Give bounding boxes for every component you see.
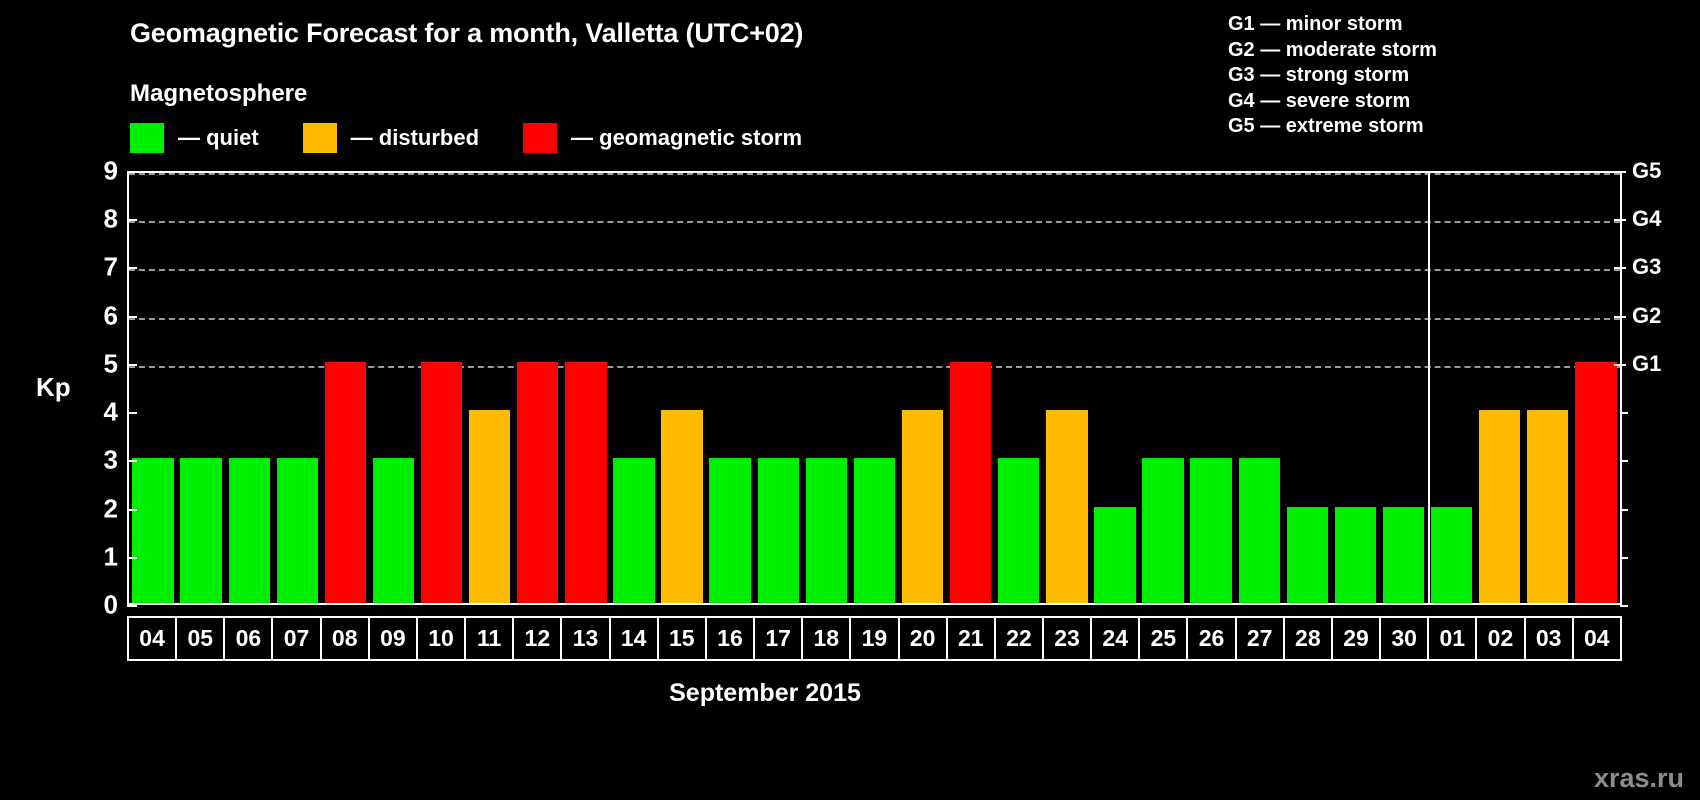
day-label-22[interactable]: 22 [996,618,1044,659]
bar-19-kp3[interactable] [854,458,895,603]
day-label-29[interactable]: 29 [1333,618,1381,659]
g-tick-mark-G1 [1614,364,1626,366]
bar-04-kp5[interactable] [1575,362,1616,603]
bar-cell[interactable] [129,173,177,603]
day-label-01[interactable]: 01 [1429,618,1477,659]
day-label-13[interactable]: 13 [562,618,610,659]
y-tick-label-8: 8 [104,204,118,235]
bar-30-kp2[interactable] [1383,507,1424,603]
bar-16-kp3[interactable] [709,458,750,603]
bar-cell[interactable] [1139,173,1187,603]
day-label-26[interactable]: 26 [1188,618,1236,659]
bar-cell[interactable] [1379,173,1427,603]
day-label-04[interactable]: 04 [1574,618,1620,659]
bar-cell[interactable] [850,173,898,603]
bar-18-kp3[interactable] [806,458,847,603]
bar-cell[interactable] [1572,173,1620,603]
day-label-21[interactable]: 21 [948,618,996,659]
bar-09-kp3[interactable] [373,458,414,603]
g-tick-mark-G5 [1614,171,1626,173]
legend-label-disturbed: — disturbed [351,125,479,151]
legend-label-storm: — geomagnetic storm [571,125,802,151]
bar-cell[interactable] [1476,173,1524,603]
y-axis-title: Kp [36,372,71,403]
y-tick-mark-9 [127,171,137,173]
storm-scale-legend: G1 — minor stormG2 — moderate stormG3 — … [1228,12,1437,140]
day-label-30[interactable]: 30 [1381,618,1429,659]
bar-series [129,173,1620,603]
bar-cell[interactable] [369,173,417,603]
y-tick-mark-7 [127,267,137,269]
g-tick-mark-G4 [1614,219,1626,221]
day-label-25[interactable]: 25 [1140,618,1188,659]
g-tick-mark-G2 [1614,316,1626,318]
y-tick-label-3: 3 [104,445,118,476]
legend-item-storm: — geomagnetic storm [523,123,846,153]
g-minor-tick-1 [1620,557,1628,559]
g-minor-tick-3 [1620,460,1628,462]
geomagnetic-forecast-chart: Geomagnetic Forecast for a month, Vallet… [0,0,1700,800]
y-tick-label-7: 7 [104,252,118,283]
bar-cell[interactable] [466,173,514,603]
bar-11-kp4[interactable] [469,410,510,603]
bar-cell[interactable] [995,173,1043,603]
bar-cell[interactable] [321,173,369,603]
y-tick-label-2: 2 [104,493,118,524]
g-minor-tick-2 [1620,509,1628,511]
y-tick-mark-0 [127,605,137,607]
day-label-04[interactable]: 04 [129,618,177,659]
y-tick-label-4: 4 [104,397,118,428]
day-label-14[interactable]: 14 [611,618,659,659]
day-label-12[interactable]: 12 [514,618,562,659]
legend-item-quiet: — quiet [130,123,303,153]
day-label-08[interactable]: 08 [322,618,370,659]
bar-28-kp2[interactable] [1287,507,1328,603]
day-label-09[interactable]: 09 [370,618,418,659]
day-label-02[interactable]: 02 [1477,618,1525,659]
bar-06-kp3[interactable] [229,458,270,603]
bar-cell[interactable] [514,173,562,603]
bar-20-kp4[interactable] [902,410,943,603]
day-label-23[interactable]: 23 [1044,618,1092,659]
storm-scale-row-3: G3 — strong storm [1228,63,1437,89]
bar-cell[interactable] [1091,173,1139,603]
bar-cell[interactable] [1428,173,1476,603]
bar-cell[interactable] [1524,173,1572,603]
y-tick-mark-1 [127,557,137,559]
y-tick-mark-5 [127,364,137,366]
g-axis-label-G3: G3 [1632,254,1661,280]
bar-27-kp3[interactable] [1239,458,1280,603]
g-axis-label-G1: G1 [1632,351,1661,377]
day-label-17[interactable]: 17 [755,618,803,659]
day-label-15[interactable]: 15 [659,618,707,659]
bar-07-kp3[interactable] [277,458,318,603]
y-tick-mark-2 [127,509,137,511]
storm-scale-row-2: G2 — moderate storm [1228,38,1437,64]
bar-cell[interactable] [754,173,802,603]
day-label-27[interactable]: 27 [1237,618,1285,659]
bar-cell[interactable] [1283,173,1331,603]
bar-08-kp5[interactable] [325,362,366,603]
g-minor-tick-4 [1620,412,1628,414]
bar-14-kp3[interactable] [613,458,654,603]
bar-cell[interactable] [1331,173,1379,603]
bar-cell[interactable] [899,173,947,603]
bar-29-kp2[interactable] [1335,507,1376,603]
storm-scale-row-5: G5 — extreme storm [1228,114,1437,140]
bar-21-kp5[interactable] [950,362,991,603]
month-divider [1428,173,1430,603]
bar-cell[interactable] [418,173,466,603]
bar-12-kp5[interactable] [517,362,558,603]
day-label-16[interactable]: 16 [707,618,755,659]
bar-cell[interactable] [947,173,995,603]
bar-05-kp3[interactable] [180,458,221,603]
day-label-06[interactable]: 06 [225,618,273,659]
y-tick-label-1: 1 [104,541,118,572]
g-minor-tick-0 [1620,605,1628,607]
page-title: Geomagnetic Forecast for a month, Vallet… [130,18,803,49]
bar-10-kp5[interactable] [421,362,462,603]
day-label-18[interactable]: 18 [803,618,851,659]
y-tick-label-0: 0 [104,590,118,621]
plot-area [127,171,1622,605]
g-axis-label-G2: G2 [1632,303,1661,329]
day-label-24[interactable]: 24 [1092,618,1140,659]
bar-cell[interactable] [706,173,754,603]
legend-item-disturbed: — disturbed [303,123,523,153]
bar-cell[interactable] [610,173,658,603]
y-tick-label-6: 6 [104,300,118,331]
bar-02-kp4[interactable] [1479,410,1520,603]
g-tick-mark-G3 [1614,267,1626,269]
day-label-03[interactable]: 03 [1526,618,1574,659]
x-axis-title: September 2015 [0,679,1700,708]
g-axis-label-G5: G5 [1632,158,1661,184]
bar-cell[interactable] [1187,173,1235,603]
bar-cell[interactable] [273,173,321,603]
storm-scale-row-1: G1 — minor storm [1228,12,1437,38]
day-label-10[interactable]: 10 [418,618,466,659]
bar-cell[interactable] [562,173,610,603]
legend-swatch-storm [523,123,557,153]
bar-13-kp5[interactable] [565,362,606,603]
bar-cell[interactable] [1043,173,1091,603]
legend-label-quiet: — quiet [178,125,259,151]
day-label-28[interactable]: 28 [1285,618,1333,659]
y-tick-mark-4 [127,412,137,414]
day-label-20[interactable]: 20 [900,618,948,659]
day-label-strip: 0405060708091011121314151617181920212223… [127,616,1622,661]
legend-swatch-quiet [130,123,164,153]
g-axis-label-G4: G4 [1632,206,1661,232]
bar-17-kp3[interactable] [758,458,799,603]
bar-cell[interactable] [225,173,273,603]
watermark: xras.ru [1594,763,1684,794]
y-tick-mark-3 [127,460,137,462]
bar-cell[interactable] [658,173,706,603]
chart-subtitle: Magnetosphere [130,80,307,108]
legend-swatch-disturbed [303,123,337,153]
bar-cell[interactable] [802,173,850,603]
bar-26-kp3[interactable] [1190,458,1231,603]
day-label-07[interactable]: 07 [273,618,321,659]
bar-cell[interactable] [177,173,225,603]
y-tick-label-5: 5 [104,348,118,379]
bar-25-kp3[interactable] [1142,458,1183,603]
bar-04-kp3[interactable] [132,458,173,603]
y-tick-mark-6 [127,316,137,318]
y-tick-label-9: 9 [104,156,118,187]
color-legend: — quiet— disturbed— geomagnetic storm [130,123,846,153]
day-label-05[interactable]: 05 [177,618,225,659]
bar-23-kp4[interactable] [1046,410,1087,603]
y-tick-mark-8 [127,219,137,221]
day-label-11[interactable]: 11 [466,618,514,659]
bar-22-kp3[interactable] [998,458,1039,603]
day-label-19[interactable]: 19 [851,618,899,659]
bar-01-kp2[interactable] [1431,507,1472,603]
bar-03-kp4[interactable] [1527,410,1568,603]
bar-24-kp2[interactable] [1094,507,1135,603]
bar-cell[interactable] [1235,173,1283,603]
storm-scale-row-4: G4 — severe storm [1228,89,1437,115]
g-axis: G1G2G3G4G5 [1632,171,1698,605]
bar-15-kp4[interactable] [661,410,702,603]
